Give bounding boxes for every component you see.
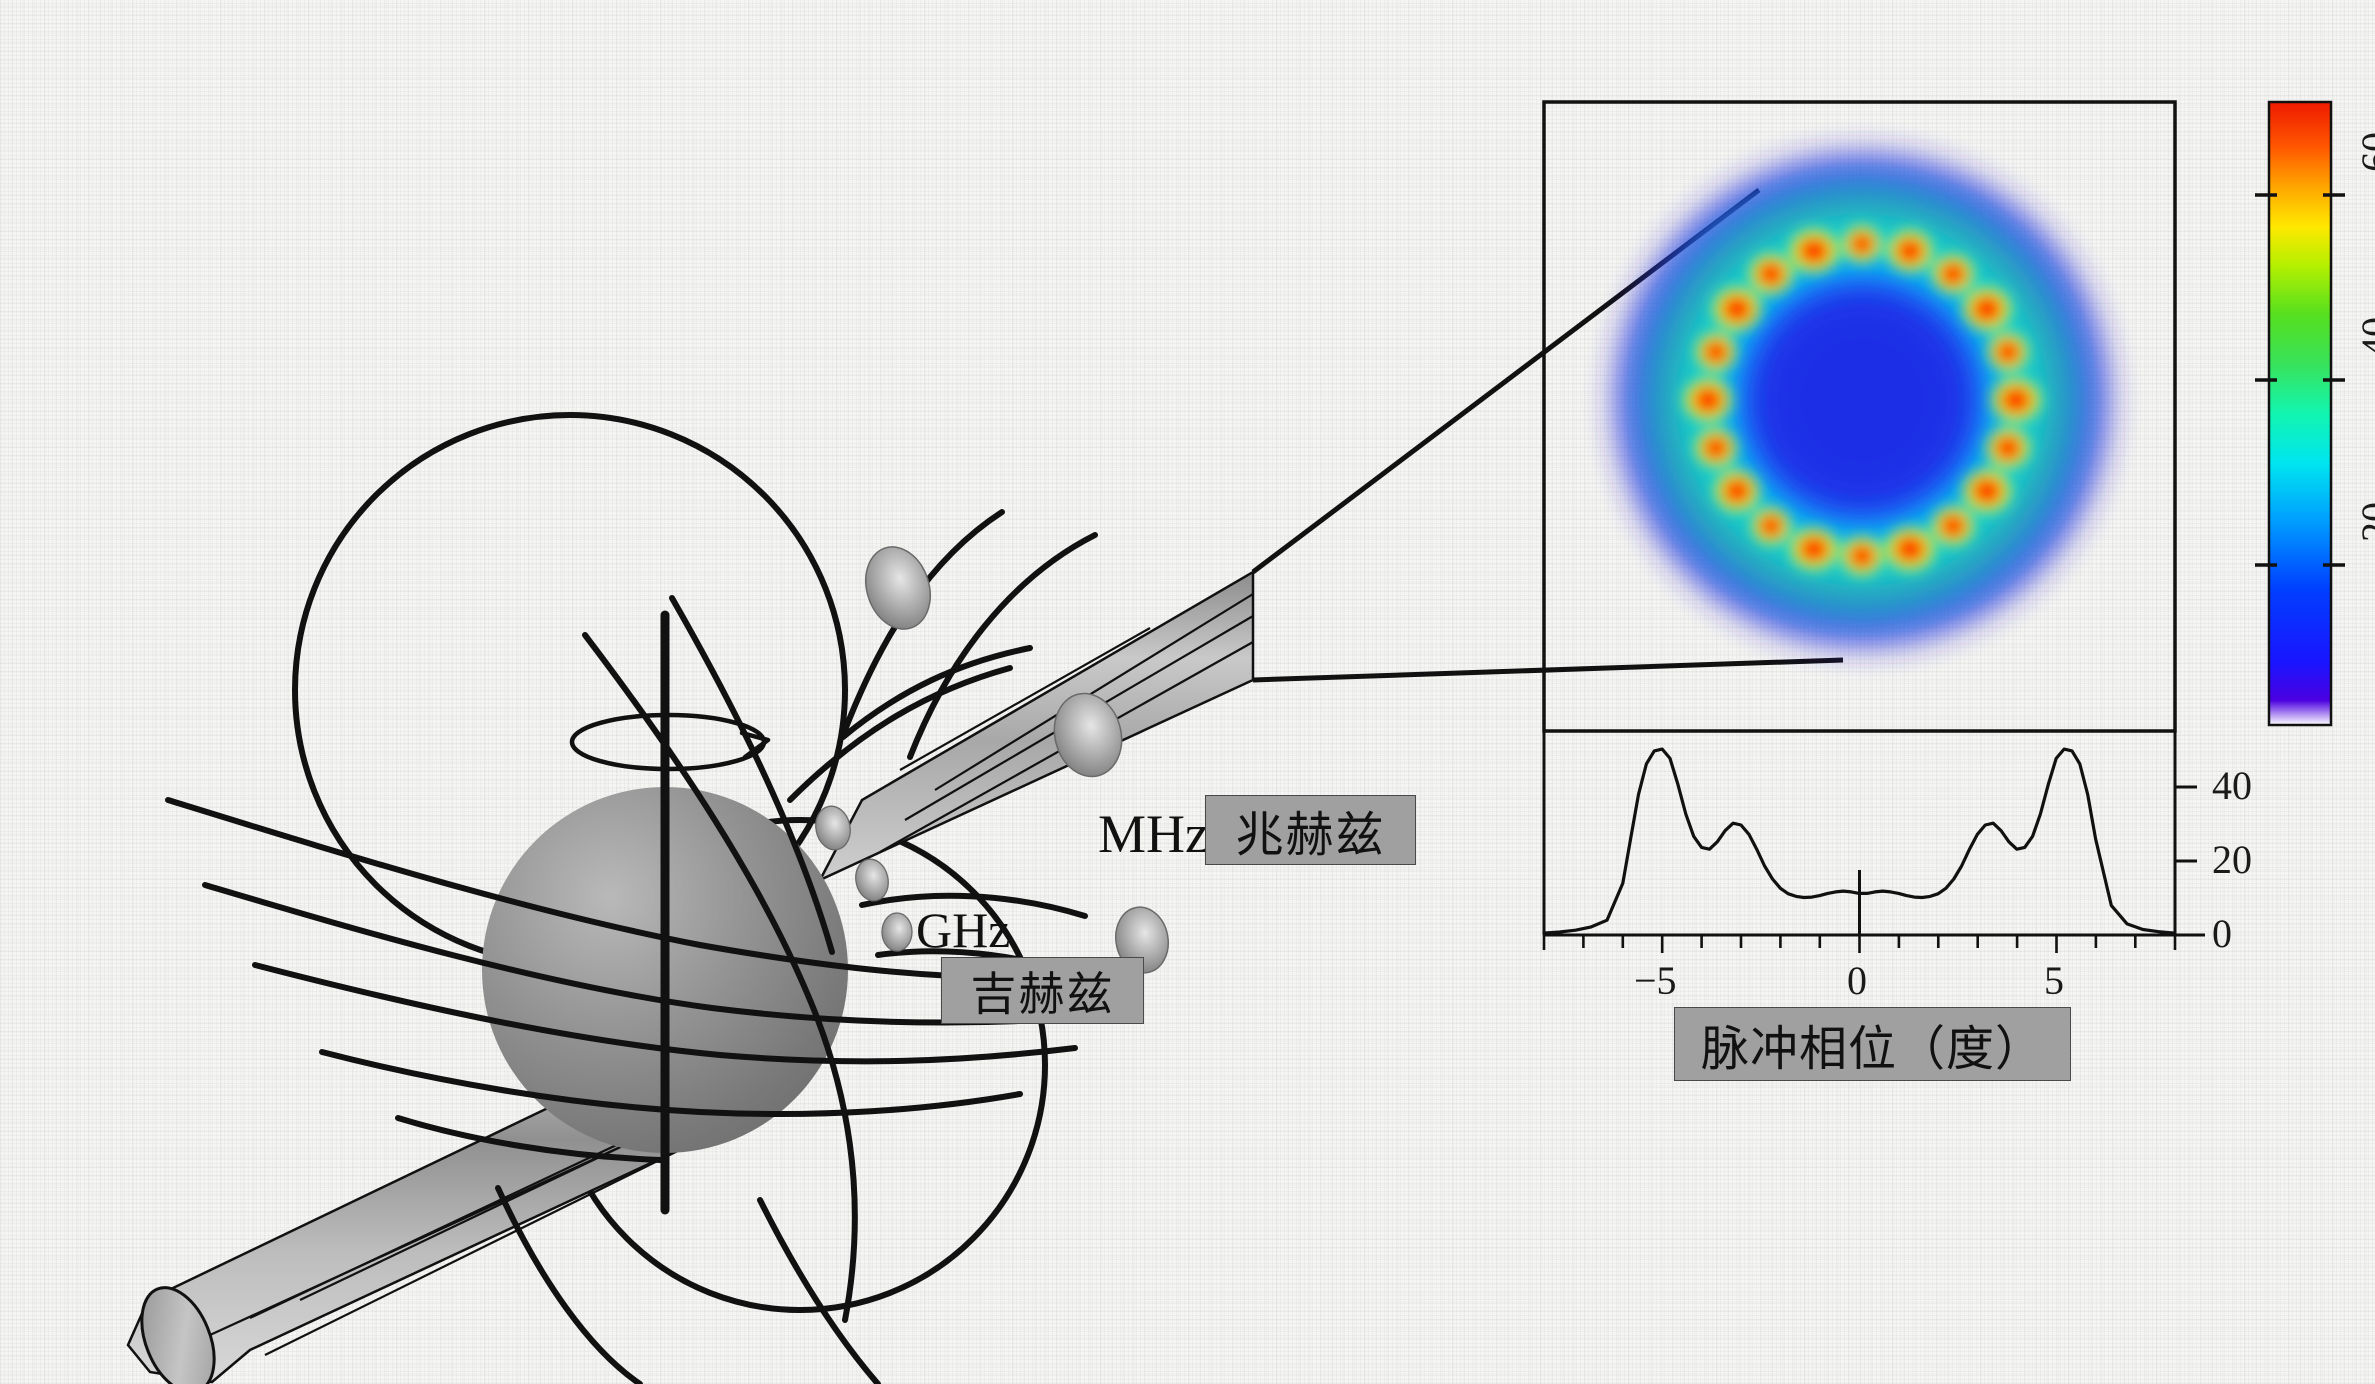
colorbar-tick-40: 40 — [2352, 317, 2375, 357]
carousel-beam-map-panel — [1544, 102, 2175, 731]
ghz-cjk-label: 吉赫兹 — [941, 957, 1144, 1024]
profile-ytick-0: 0 — [2212, 910, 2232, 957]
colorbar-tick-20: 20 — [2352, 502, 2375, 542]
colorbar-tick-60: 60 — [2352, 132, 2375, 172]
profile-y-ticks — [2175, 787, 2205, 935]
emission-blob-far-upper — [856, 538, 941, 637]
profile-ytick-20: 20 — [2212, 836, 2252, 883]
mhz-cjk-label: 兆赫兹 — [1205, 795, 1416, 865]
profile-xtick-minus5: −5 — [1634, 957, 1677, 1004]
figure-svg — [0, 0, 2375, 1384]
ghz-latin-label: GHz — [916, 901, 1010, 959]
profile-xtick-5: 5 — [2044, 957, 2064, 1004]
beam-map-core — [1750, 288, 1974, 512]
emission-blob-ghz — [882, 913, 912, 951]
pulse-phase-axis-label: 脉冲相位（度） — [1674, 1007, 2071, 1081]
mhz-latin-label: MHz — [1098, 803, 1209, 865]
pulsar-schematic — [128, 415, 1253, 1384]
rotation-arrow — [572, 715, 768, 769]
figure-canvas: MHz 兆赫兹 GHz 吉赫兹 脉冲相位（度） 60 40 20 40 20 0… — [0, 0, 2375, 1384]
profile-xtick-0: 0 — [1847, 957, 1867, 1004]
pulse-profile-panel — [1544, 731, 2205, 953]
colorbar-gradient — [2269, 102, 2331, 725]
profile-x-ticks — [1544, 935, 2175, 953]
profile-ytick-40: 40 — [2212, 762, 2252, 809]
beam-map-colorbar — [2255, 102, 2345, 725]
leader-line-bottom — [1253, 660, 1843, 680]
